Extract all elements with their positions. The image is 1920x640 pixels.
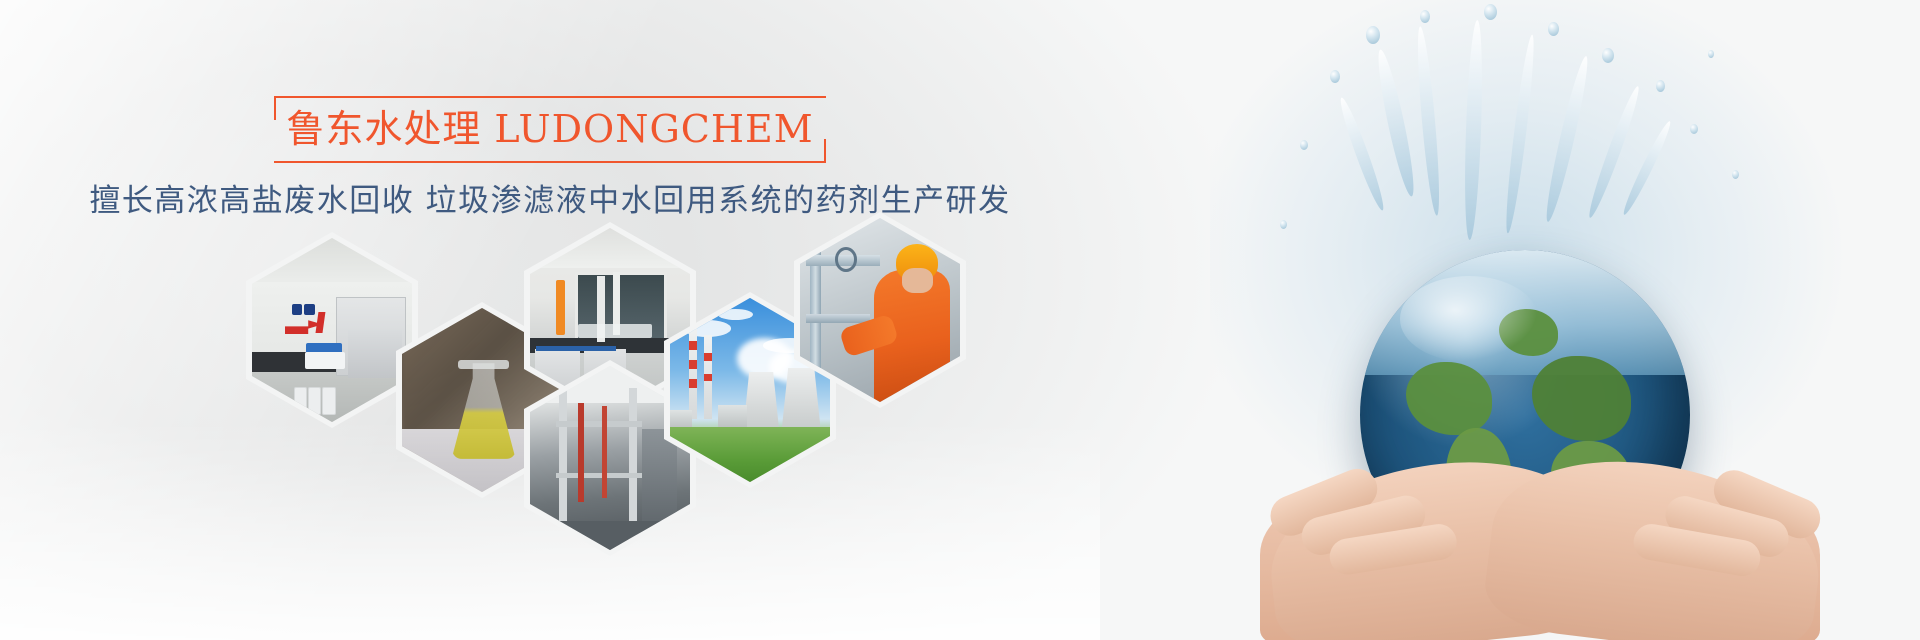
hero-banner: 鲁东水处理 LUDONGCHEM 擅长高浓高盐废水回收 垃圾渗滤液中水回用系统的… <box>0 0 1920 640</box>
company-title-wrap: 鲁东水处理 LUDONGCHEM <box>260 96 839 163</box>
title-rule-bottom <box>274 161 825 163</box>
cupped-hands <box>1260 395 1820 640</box>
water-globe-illustration <box>1060 0 1920 640</box>
hero-subtitle: 擅长高浓高盐废水回收 垃圾渗滤液中水回用系统的药剂生产研发 <box>0 180 1100 222</box>
title-rule-top <box>274 96 825 98</box>
page-title: 鲁东水处理 LUDONGCHEM <box>282 100 817 157</box>
bracket-right-icon <box>812 139 826 163</box>
bracket-left-icon <box>274 96 288 120</box>
hero-text-block: 鲁东水处理 LUDONGCHEM 擅长高浓高盐废水回收 垃圾渗滤液中水回用系统的… <box>0 96 1100 222</box>
wall-slogan-graphic <box>273 304 340 337</box>
globe-highlight <box>1400 276 1539 362</box>
